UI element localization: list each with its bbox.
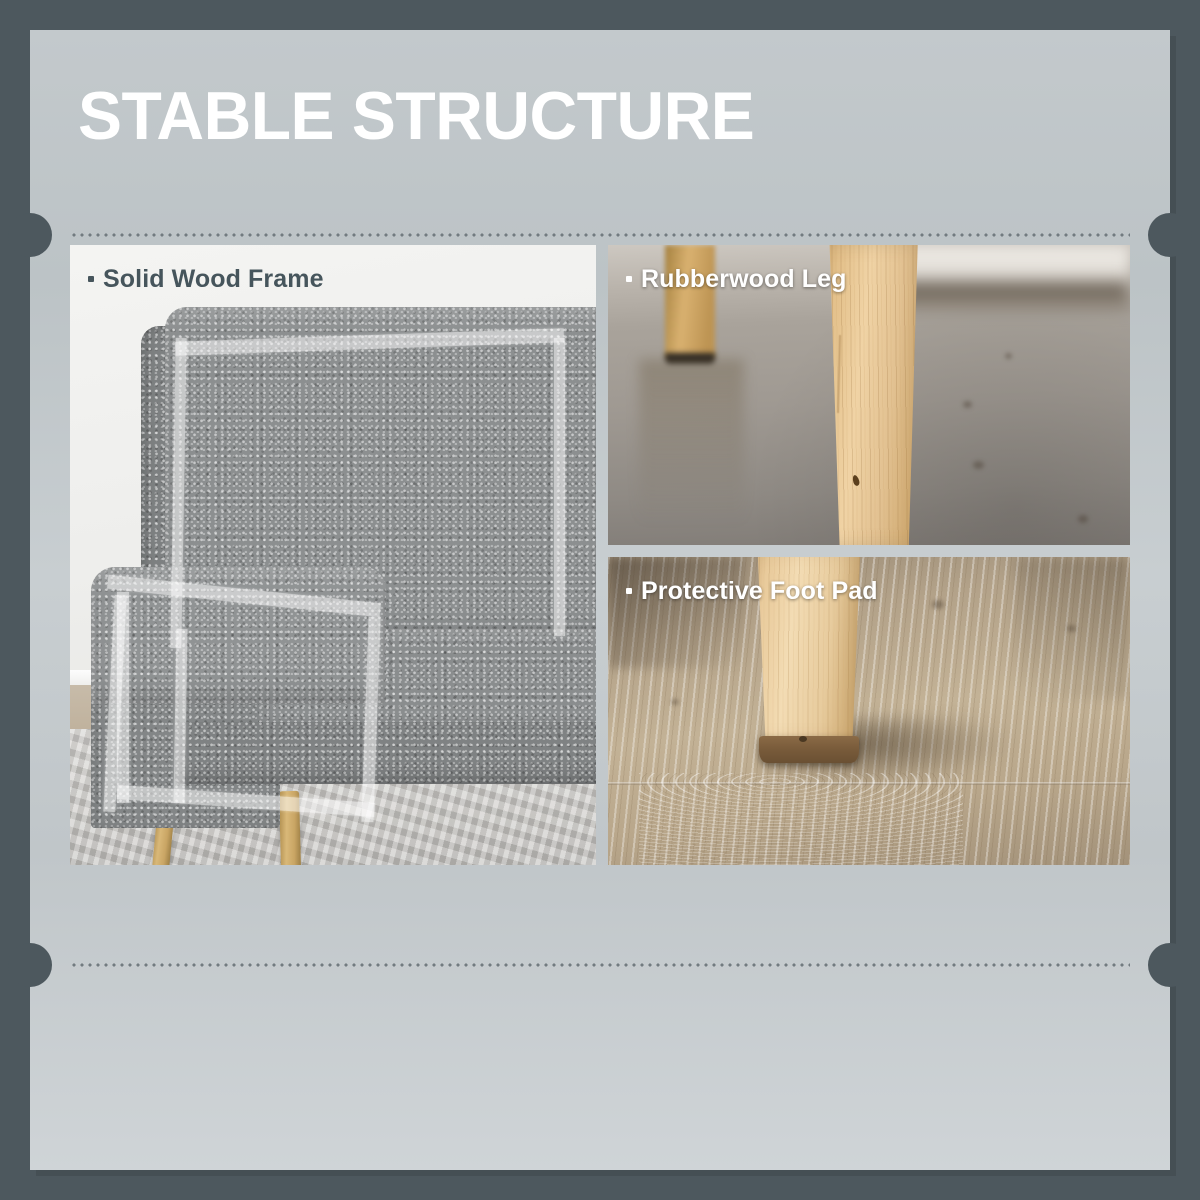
floor-speck [973,461,984,469]
armchair-photo [70,245,596,865]
bullet-icon [626,588,632,594]
notch-top-left-icon [8,213,52,257]
floor-shadow-left [608,557,744,668]
bullet-icon [626,276,632,282]
infographic-stage: STABLE STRUCTURE [0,0,1200,1200]
feature-panel-grid: Solid Wood Frame [70,245,1130,865]
background-chair-leg [665,245,715,359]
perforation-line-bottom [70,963,1130,967]
floor-speck [671,699,679,705]
foot-pad-notch [799,736,807,742]
background-shadow-band [879,281,1130,308]
notch-top-right-icon [1148,213,1192,257]
floor-grain-arcs [639,773,963,865]
floor-reflection [639,359,743,524]
floor-speck [1078,515,1088,523]
caption-solid-wood-frame: Solid Wood Frame [88,265,324,294]
caption-label: Protective Foot Pad [641,577,878,606]
floor-speck [1005,353,1012,359]
caption-protective-foot-pad: Protective Foot Pad [626,577,878,606]
chair-leg-rear [279,790,301,865]
header: STABLE STRUCTURE [30,30,1170,233]
panel-rubberwood-leg[interactable]: Rubberwood Leg [608,245,1130,545]
caption-label: Rubberwood Leg [641,265,847,294]
caption-label: Solid Wood Frame [103,265,324,294]
caption-rubberwood-leg: Rubberwood Leg [626,265,847,294]
chair-base [175,722,596,784]
panel-solid-wood-frame[interactable]: Solid Wood Frame [70,245,596,865]
perforation-line-top [70,233,1130,237]
protective-foot-pad-part [759,736,858,764]
page-title: STABLE STRUCTURE [78,82,754,150]
floor-speck [932,600,944,609]
ticket-card: STABLE STRUCTURE [30,30,1170,1170]
bullet-icon [88,276,94,282]
notch-bottom-right-icon [1148,943,1192,987]
floor-speck [1067,625,1076,632]
chair-armrest [91,567,386,703]
floor-speck [963,401,972,408]
notch-bottom-left-icon [8,943,52,987]
panel-protective-foot-pad[interactable]: Protective Foot Pad [608,557,1130,865]
